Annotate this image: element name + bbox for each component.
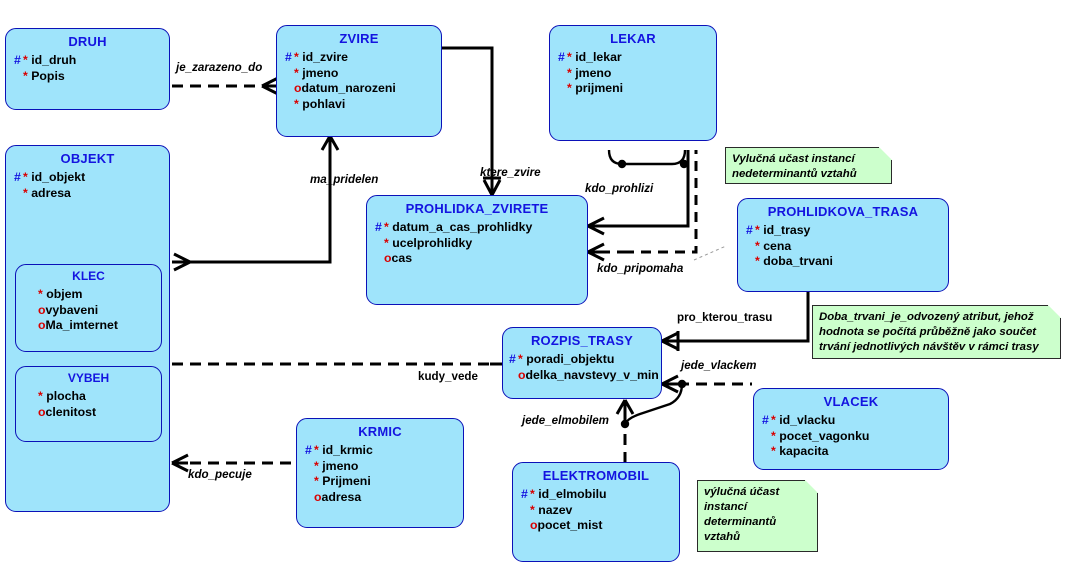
attribute-row: * plocha [38, 389, 161, 405]
attribute-row: * jmeno [558, 66, 716, 82]
attribute-row: * kapacita [762, 444, 948, 460]
optionality-marker: * [314, 443, 319, 457]
optionality-marker: o [530, 518, 538, 532]
attribute-row: #* id_elmobilu [521, 487, 679, 503]
entity-title: PROHLIDKA_ZVIRETE [367, 201, 587, 216]
note-fold-icon [805, 480, 818, 493]
attribute-row: * cena [746, 239, 948, 255]
optionality-marker: * [771, 444, 776, 458]
attribute-name: clenitost [46, 405, 97, 419]
attribute-name: pocet_vagonku [779, 429, 869, 443]
entity-elektromobil[interactable]: ELEKTROMOBIL #* id_elmobilu * nazev opoc… [512, 462, 680, 562]
attribute-name: Popis [31, 69, 64, 83]
optionality-marker: * [530, 503, 535, 517]
attribute-name: datum_narozeni [302, 81, 396, 95]
pk-marker: # [285, 50, 294, 66]
attribute-list: #* id_zvire * jmeno odatum_narozeni * po… [277, 50, 441, 112]
note-determinantu[interactable]: výlučná účast instancí determinantů vzta… [697, 480, 818, 552]
optionality-marker: o [38, 303, 46, 317]
attribute-list: #* id_trasy * cena * doba_trvani [738, 223, 948, 270]
entity-druh[interactable]: DRUH #* id_druh * Popis [5, 28, 170, 110]
entity-title: ELEKTROMOBIL [513, 468, 679, 483]
optionality-marker: o [38, 405, 46, 419]
optionality-marker: * [294, 66, 299, 80]
attribute-name: Ma_imternet [46, 318, 118, 332]
entity-vybeh[interactable]: VYBEH * plocha oclenitost [15, 366, 162, 442]
attribute-list: #* id_druh * Popis [6, 53, 169, 84]
attribute-list: #* id_krmic * jmeno * Prijmeni oadresa [297, 443, 463, 505]
optionality-marker: * [567, 81, 572, 95]
note-line: trvání jednotlivých návštěv v rámci tras… [819, 340, 1054, 355]
attribute-row: #* id_zvire [285, 50, 441, 66]
note-line: vztahů [704, 530, 811, 545]
entity-title: DRUH [6, 34, 169, 49]
note-line: hodnota se počítá průběžně jako součet [819, 325, 1054, 340]
optionality-marker: * [38, 389, 43, 403]
optionality-marker: * [23, 53, 28, 67]
note-doba-trvani[interactable]: Doba_trvani_je_odvozený atribut, jehož h… [812, 305, 1061, 359]
pk-marker: # [746, 223, 755, 239]
attribute-row: #* id_objekt [14, 170, 169, 186]
attribute-row: #* id_vlacku [762, 413, 948, 429]
entity-title: KLEC [16, 269, 161, 283]
attribute-name: cena [763, 239, 791, 253]
attribute-name: objem [46, 287, 82, 301]
note-line: instancí [704, 500, 811, 515]
er-diagram-canvas: ZVIRE (dashed, crowfoot at ZVIRE) --> OB… [0, 0, 1065, 574]
attribute-row: #* poradi_objektu [509, 352, 661, 368]
attribute-name: adresa [322, 490, 362, 504]
attribute-row: oMa_imternet [38, 318, 161, 334]
attribute-name: id_objekt [31, 170, 85, 184]
note-line: Doba_trvani_je_odvozený atribut, jehož [819, 310, 1054, 325]
optionality-marker: * [384, 236, 389, 250]
rel-label-ma-pridelen: ma_pridelen [310, 173, 378, 186]
optionality-marker: * [755, 239, 760, 253]
attribute-list: * plocha oclenitost [16, 389, 161, 420]
attribute-name: pohlavi [302, 97, 345, 111]
attribute-row: oadresa [305, 490, 463, 506]
rel-label-kdo-prohlizi: kdo_prohlizi [585, 182, 653, 195]
attribute-name: id_krmic [322, 443, 373, 457]
optionality-marker: * [38, 287, 43, 301]
attribute-row: oclenitost [38, 405, 161, 421]
attribute-row: #* id_druh [14, 53, 169, 69]
entity-lekar[interactable]: LEKAR #* id_lekar * jmeno * prijmeni [549, 25, 717, 141]
note-line: nedeterminantů vztahů [732, 167, 885, 182]
attribute-row: * Popis [14, 69, 169, 85]
entity-title: KRMIC [297, 424, 463, 439]
attribute-list: #* id_lekar * jmeno * prijmeni [550, 50, 716, 97]
entity-vlacek[interactable]: VLACEK #* id_vlacku * pocet_vagonku * ka… [753, 388, 949, 470]
optionality-marker: * [314, 459, 319, 473]
entity-rozpis-trasy[interactable]: ROZPIS_TRASY #* poradi_objektu odelka_na… [502, 327, 662, 399]
optionality-marker: * [384, 220, 389, 234]
optionality-marker: * [23, 69, 28, 83]
entity-zvire[interactable]: ZVIRE #* id_zvire * jmeno odatum_narozen… [276, 25, 442, 137]
entity-klec[interactable]: KLEC * objem ovybaveni oMa_imternet [15, 264, 162, 352]
note-line: determinantů [704, 515, 811, 530]
attribute-name: Prijmeni [322, 474, 371, 488]
attribute-list: #* poradi_objektu odelka_navstevy_v_min [503, 352, 661, 383]
optionality-marker: * [518, 352, 523, 366]
note-fold-icon [1048, 305, 1061, 318]
attribute-row: * Prijmeni [305, 474, 463, 490]
optionality-marker: o [384, 251, 392, 265]
note-nedeterminantu[interactable]: Vylučná učast instancí nedeterminantů vz… [725, 147, 892, 184]
attribute-row: * ucelprohlidky [375, 236, 587, 252]
attribute-name: id_druh [31, 53, 76, 67]
attribute-row: * pocet_vagonku [762, 429, 948, 445]
attribute-name: plocha [46, 389, 86, 403]
rel-label-pro-kterou-trasu: pro_kterou_trasu [677, 311, 772, 324]
optionality-marker: o [38, 318, 46, 332]
attribute-name: jmeno [302, 66, 338, 80]
attribute-name: id_elmobilu [538, 487, 606, 501]
attribute-name: prijmeni [575, 81, 623, 95]
attribute-row: odelka_navstevy_v_min [509, 368, 661, 384]
attribute-row: #* id_lekar [558, 50, 716, 66]
pk-marker: # [14, 170, 23, 186]
entity-title: VYBEH [16, 371, 161, 385]
entity-krmic[interactable]: KRMIC #* id_krmic * jmeno * Prijmeni oad… [296, 418, 464, 528]
attribute-list: #* id_elmobilu * nazev opocet_mist [513, 487, 679, 534]
note-line: Vylučná učast instancí [732, 152, 885, 167]
pk-marker: # [762, 413, 771, 429]
pk-marker: # [375, 220, 384, 236]
optionality-marker: * [755, 223, 760, 237]
attribute-list: #* id_vlacku * pocet_vagonku * kapacita [754, 413, 948, 460]
attribute-name: delka_navstevy_v_min [526, 368, 659, 382]
attribute-name: id_trasy [763, 223, 810, 237]
entity-title: PROHLIDKOVA_TRASA [738, 204, 948, 219]
attribute-row: #* id_trasy [746, 223, 948, 239]
rel-label-jede-vlackem: jede_vlackem [681, 359, 756, 372]
optionality-marker: * [755, 254, 760, 268]
attribute-name: pocet_mist [538, 518, 603, 532]
attribute-name: adresa [31, 186, 71, 200]
attribute-list: #* datum_a_cas_prohlidky * ucelprohlidky… [367, 220, 587, 267]
rel-label-je-zarazeno-do: je_zarazeno_do [176, 61, 262, 74]
attribute-name: id_vlacku [779, 413, 835, 427]
attribute-row: ocas [375, 251, 587, 267]
attribute-row: * adresa [14, 186, 169, 202]
rel-label-kdo-pecuje: kdo_pecuje [188, 468, 252, 481]
attribute-name: jmeno [322, 459, 358, 473]
attribute-list: * objem ovybaveni oMa_imternet [16, 287, 161, 334]
entity-title: ROZPIS_TRASY [503, 333, 661, 348]
optionality-marker: * [567, 66, 572, 80]
entity-title: ZVIRE [277, 31, 441, 46]
rel-label-kdo-pripomaha: kdo_pripomaha [597, 262, 683, 275]
attribute-row: * objem [38, 287, 161, 303]
attribute-row: opocet_mist [521, 518, 679, 534]
entity-objekt[interactable]: OBJEKT #* id_objekt * adresa KLEC * obje… [5, 145, 170, 512]
attribute-name: ucelprohlidky [392, 236, 472, 250]
optionality-marker: * [294, 50, 299, 64]
entity-title: LEKAR [550, 31, 716, 46]
optionality-marker: o [518, 368, 526, 382]
optionality-marker: * [771, 413, 776, 427]
attribute-row: * pohlavi [285, 97, 441, 113]
attribute-row: * doba_trvani [746, 254, 948, 270]
pk-marker: # [305, 443, 314, 459]
rel-label-kudy-vede: kudy_vede [418, 370, 478, 383]
optionality-marker: * [530, 487, 535, 501]
optionality-marker: * [23, 186, 28, 200]
entity-title: OBJEKT [6, 151, 169, 166]
attribute-row: #* id_krmic [305, 443, 463, 459]
entity-prohlidka-zvirete[interactable]: PROHLIDKA_ZVIRETE #* datum_a_cas_prohlid… [366, 195, 588, 305]
rel-label-jede-elmobilem: jede_elmobilem [522, 414, 609, 427]
optionality-marker: * [314, 474, 319, 488]
attribute-name: poradi_objektu [526, 352, 614, 366]
pk-marker: # [558, 50, 567, 66]
attribute-name: datum_a_cas_prohlidky [392, 220, 532, 234]
optionality-marker: o [294, 81, 302, 95]
attribute-name: id_lekar [575, 50, 622, 64]
note-fold-icon [879, 147, 892, 160]
attribute-row: ovybaveni [38, 303, 161, 319]
attribute-row: * jmeno [305, 459, 463, 475]
pk-marker: # [509, 352, 518, 368]
attribute-row: #* datum_a_cas_prohlidky [375, 220, 587, 236]
attribute-name: nazev [538, 503, 572, 517]
optionality-marker: o [314, 490, 322, 504]
optionality-marker: * [771, 429, 776, 443]
attribute-name: vybaveni [46, 303, 99, 317]
attribute-list: #* id_objekt * adresa [6, 170, 169, 201]
entity-prohlidkova-trasa[interactable]: PROHLIDKOVA_TRASA #* id_trasy * cena * d… [737, 198, 949, 292]
attribute-name: id_zvire [302, 50, 348, 64]
attribute-row: * nazev [521, 503, 679, 519]
pk-marker: # [14, 53, 23, 69]
attribute-name: kapacita [779, 444, 828, 458]
optionality-marker: * [294, 97, 299, 111]
note-line: výlučná účast [704, 485, 811, 500]
pk-marker: # [521, 487, 530, 503]
optionality-marker: * [567, 50, 572, 64]
attribute-name: jmeno [575, 66, 611, 80]
rel-label-ktere-zvire: ktere_zvire [480, 166, 541, 179]
attribute-row: * prijmeni [558, 81, 716, 97]
attribute-name: cas [392, 251, 413, 265]
attribute-name: doba_trvani [763, 254, 833, 268]
attribute-row: odatum_narozeni [285, 81, 441, 97]
optionality-marker: * [23, 170, 28, 184]
attribute-row: * jmeno [285, 66, 441, 82]
entity-title: VLACEK [754, 394, 948, 409]
